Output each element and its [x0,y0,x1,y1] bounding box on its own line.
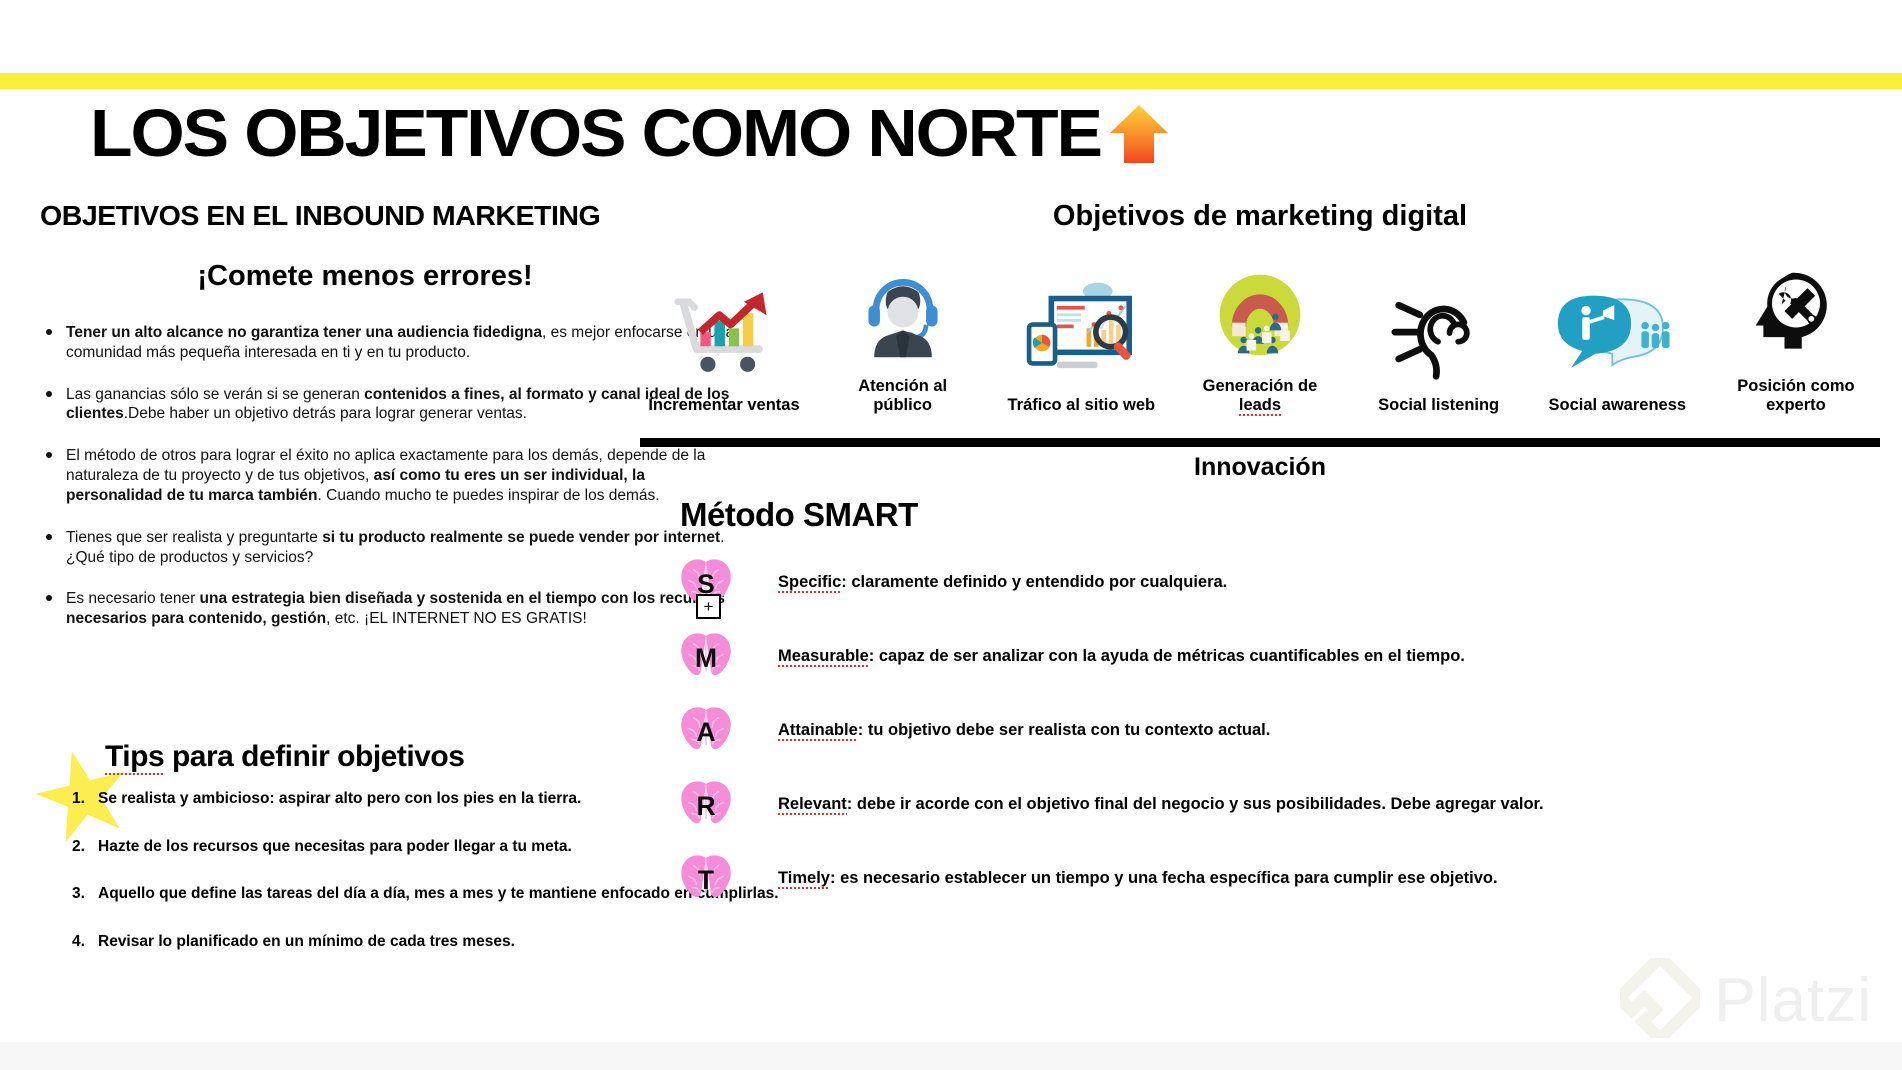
objective-cell: Social awareness [1541,274,1693,415]
smart-row: A Attainable: tu objetivo debe ser reali… [640,700,1880,762]
bullet-item: Las ganancias sólo se verán si se genera… [40,385,740,425]
bullet-text: .Debe haber un objetivo detrás para logr… [124,405,527,422]
objective-cell: Generación de leads [1184,255,1336,416]
smart-term: Specific [778,573,841,593]
bullet-text: Es necesario tener [66,590,200,607]
bottom-strip [0,1042,1902,1070]
arrow-up-icon [1108,103,1170,165]
smart-description: : capaz de ser analizar con la ayuda de … [869,647,1465,665]
analytics-dashboard-magnifier-icon [1025,274,1137,382]
objective-cell: Posición como experto [1720,255,1872,416]
platzi-watermark: Platzi [1620,958,1872,1043]
objective-cell: Social listening [1363,274,1515,415]
objective-label: Atención al público [827,377,979,416]
section-divider [640,438,1880,447]
smart-description: : claramente definido y entendido por cu… [841,573,1227,591]
bullet-item: Tienes que ser realista y preguntarte si… [40,528,740,568]
top-yellow-band [0,73,1902,89]
magnet-people-icon [1212,255,1308,363]
tips-title: Tips para definir objetivos [105,740,464,774]
objective-cell: Incrementar ventas [648,274,800,415]
objective-label: Tráfico al sitio web [1008,396,1156,415]
page-title: LOS OBJETIVOS COMO NORTE [90,100,1101,167]
right-heading: Objetivos de marketing digital [640,200,1880,233]
inbound-bullet-list: Tener un alto alcance no garantiza tener… [40,323,740,629]
bullet-item: Es necesario tener una estrategia bien d… [40,589,740,629]
objectives-icon-row: Incrementar ventas Atención al público T… [640,255,1880,416]
right-column: Objetivos de marketing digital Increment… [640,200,1880,922]
bullet-emphasis: Tener un alto alcance no garantiza tener… [66,324,542,341]
smart-text: Specific: claramente definido y entendid… [778,573,1227,593]
smart-row: T Timely: es necesario establecer un tie… [640,848,1880,910]
brain-r-icon: R [678,780,734,830]
smart-text: Relevant: debe ir acorde con el objetivo… [778,795,1544,815]
ear-listening-icon [1391,274,1487,382]
smart-row: R Relevant: debe ir acorde con el objeti… [640,774,1880,836]
objective-cell: Atención al público [827,255,979,416]
headset-agent-icon [855,255,951,363]
bullet-text: Las ganancias sólo se verán si se genera… [66,386,364,403]
smart-description: : es necesario establecer un tiempo y un… [830,869,1498,887]
platzi-wordmark: Platzi [1714,970,1872,1032]
bullet-text: . Cuando mucho te puedes inspirar de los… [318,487,660,504]
smart-text: Measurable: capaz de ser analizar con la… [778,647,1465,667]
bullet-item: El método de otros para lograr el éxito … [40,446,740,505]
smart-term: Relevant [778,795,847,815]
left-column: OBJETIVOS EN EL INBOUND MARKETING ¡Comet… [40,200,740,651]
brain-t-icon: T [678,854,734,904]
smart-term: Timely [778,869,830,889]
svg-text:T: T [698,865,714,895]
objective-label: Social awareness [1548,396,1686,415]
objective-label: Posición como experto [1720,377,1872,416]
smart-text: Attainable: tu objetivo debe ser realist… [778,721,1270,741]
smart-text: Timely: es necesario establecer un tiemp… [778,869,1498,889]
left-subheading: ¡Comete menos errores! [0,260,740,293]
svg-text:A: A [696,717,715,747]
objective-label: Incrementar ventas [648,396,799,415]
platzi-diamond-icon [1620,958,1700,1043]
infographic-page: LOS OBJETIVOS COMO NORTE OBJETIVOS EN EL… [0,0,1902,1070]
objective-label-misspelled-word: leads [1239,396,1281,416]
objective-cell: Tráfico al sitio web [1005,274,1157,415]
tip-item: Revisar lo planificado en un mínimo de c… [30,933,790,952]
page-title-row: LOS OBJETIVOS COMO NORTE [90,100,1170,167]
bullet-item: Tener un alto alcance no garantiza tener… [40,323,740,363]
smart-row: S +Specific: claramente definido y enten… [640,552,1880,614]
objective-label: Social listening [1378,396,1499,415]
speech-bubble-megaphone-icon [1556,274,1678,382]
smart-row: M Measurable: capaz de ser analizar con … [640,626,1880,688]
head-tools-icon [1748,255,1844,363]
svg-text:M: M [695,643,717,673]
brain-s-icon: S + [678,558,734,608]
svg-text:R: R [696,791,715,821]
brain-m-icon: M [678,632,734,682]
add-plus-box[interactable]: + [696,594,721,619]
smart-description: : debe ir acorde con el objetivo final d… [847,795,1544,813]
objective-label-text: Generación de [1203,377,1318,395]
smart-term: Measurable [778,647,869,667]
smart-list: S +Specific: claramente definido y enten… [640,552,1880,910]
smart-term: Attainable [778,721,858,741]
innovation-label: Innovación [640,453,1880,482]
tips-title-word: Tips [105,740,164,775]
objective-label: Generación de leads [1184,377,1336,416]
bullet-text: , etc. ¡EL INTERNET NO ES GRATIS! [326,610,587,627]
bullet-text: Tienes que ser realista y preguntarte [66,529,322,546]
shopping-cart-growth-chart-icon [672,274,776,382]
smart-description: : tu objetivo debe ser realista con tu c… [858,721,1271,739]
tips-title-rest: para definir objetivos [164,740,464,773]
smart-method-title: Método SMART [680,496,1880,534]
brain-a-icon: A [678,706,734,756]
